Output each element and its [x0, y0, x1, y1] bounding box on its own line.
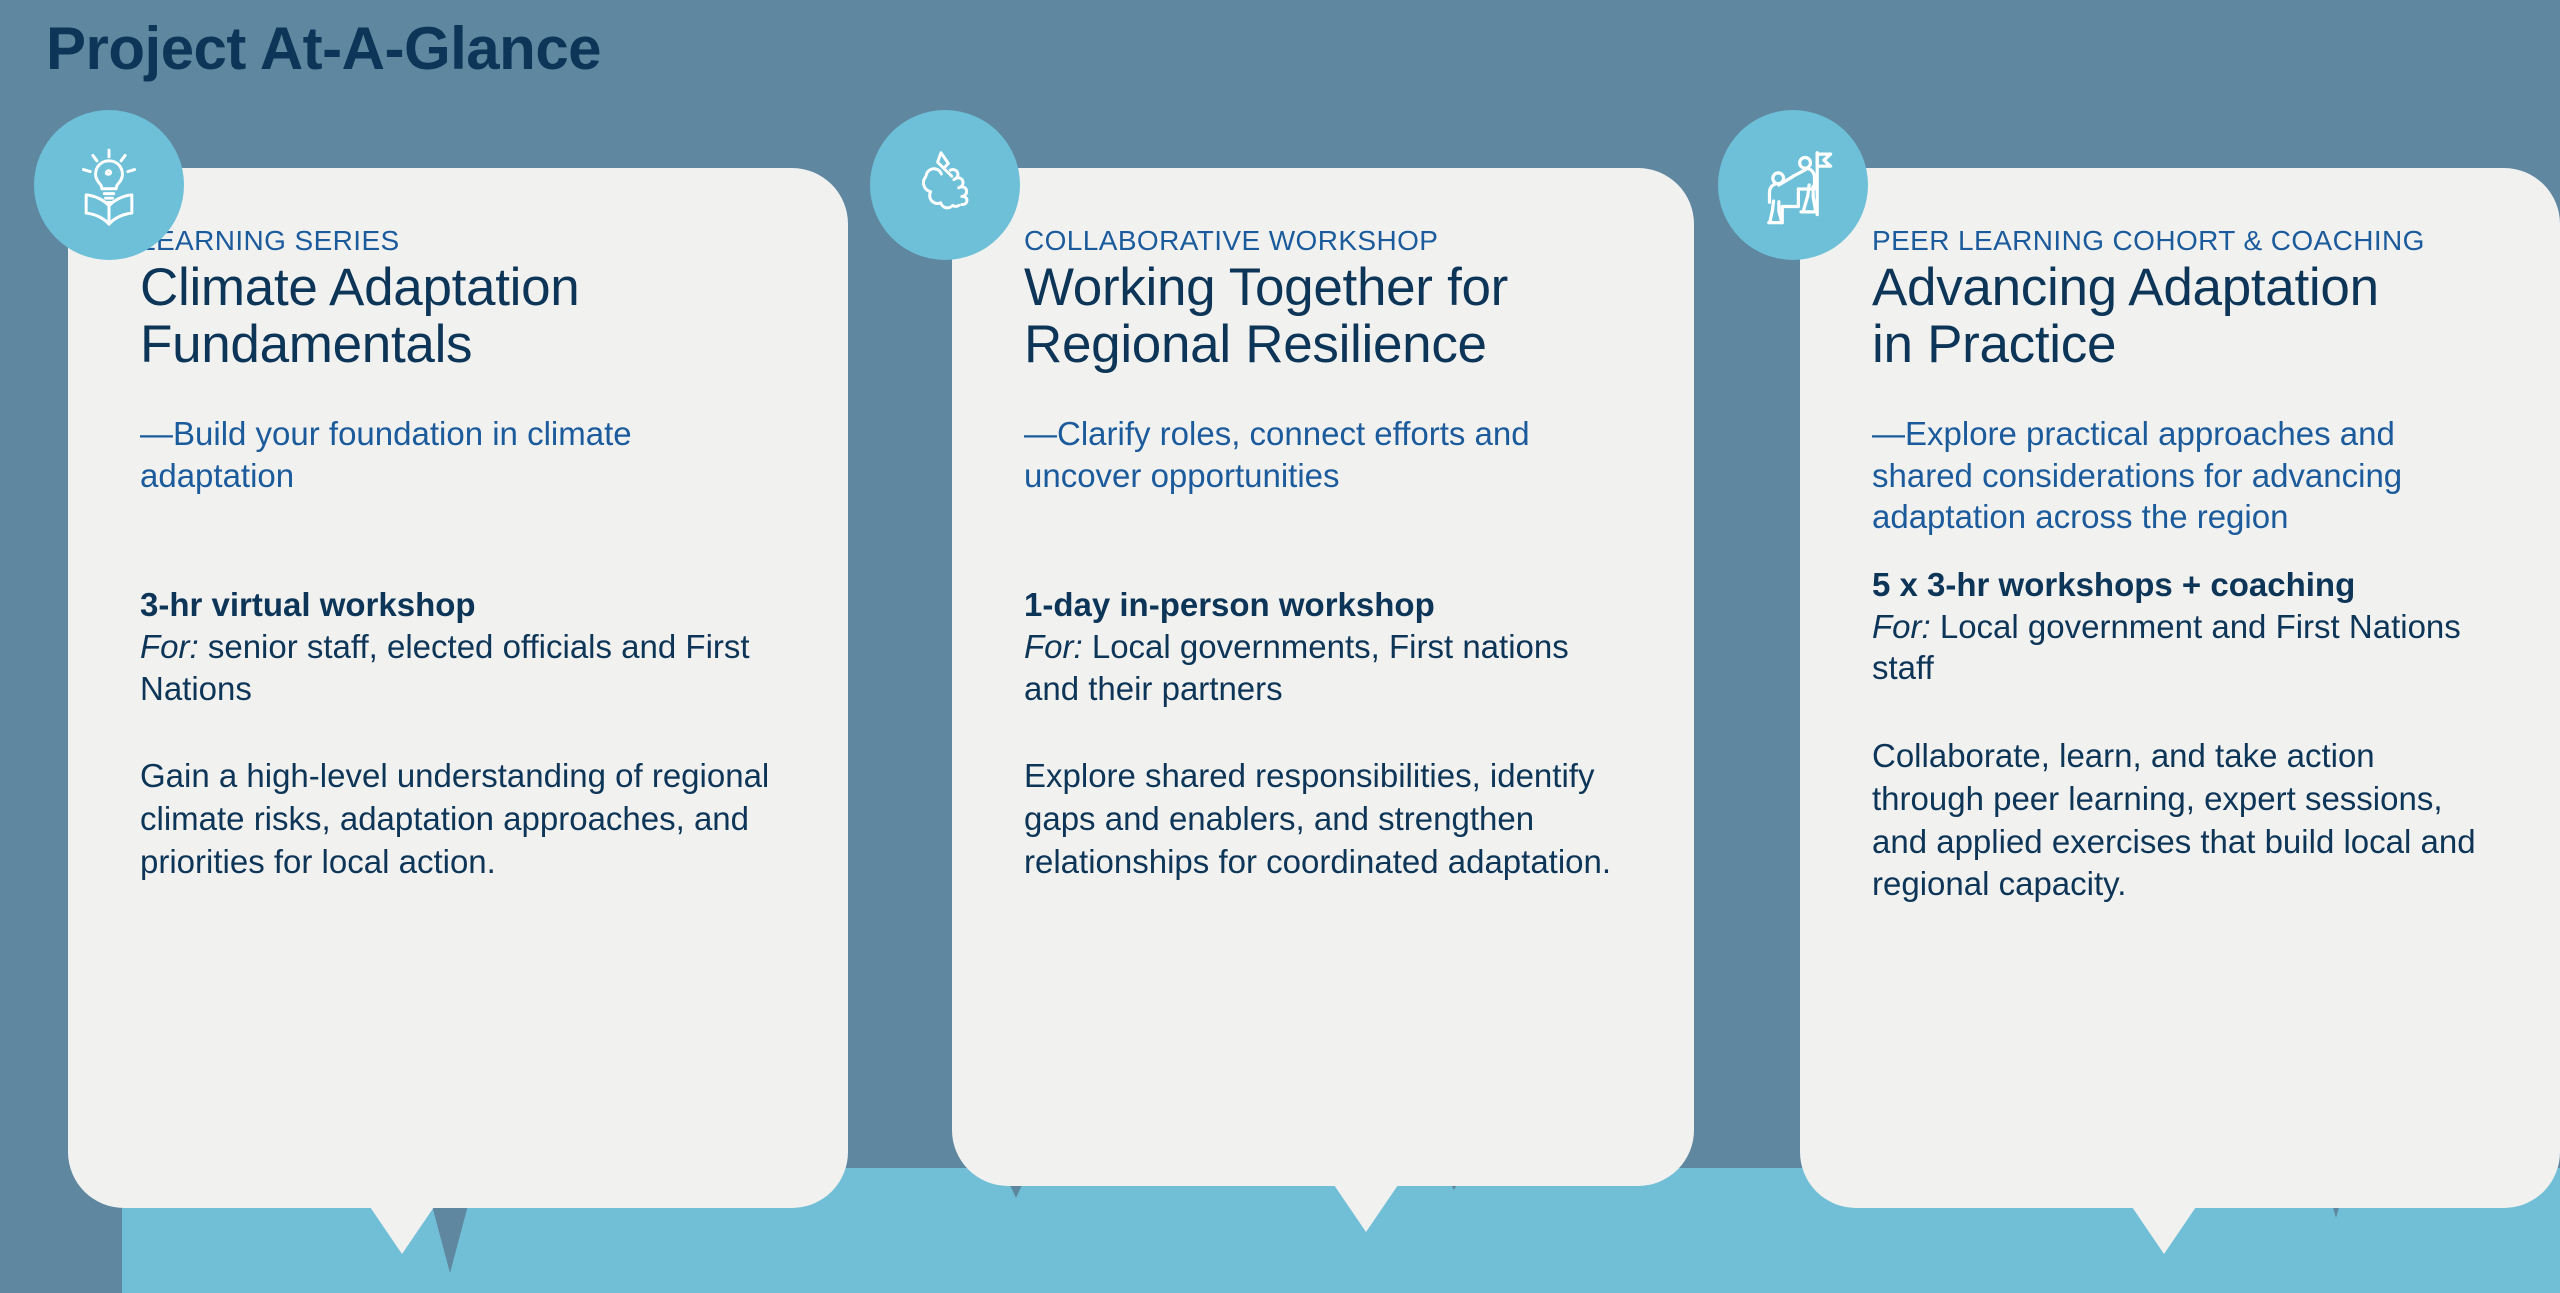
card-detail: 5 x 3-hr workshops + coaching For: Local… [1872, 564, 2488, 689]
card-tagline: —Clarify roles, connect efforts and unco… [1024, 413, 1622, 496]
climbers-flag-icon [1750, 142, 1836, 228]
card-audience: Local governments, First nations and the… [1024, 628, 1569, 707]
card-title-line-1: Advancing Adaptation [1872, 258, 2379, 317]
card-summary: Gain a high-level understanding of regio… [140, 755, 776, 884]
card-title: Working Together for Regional Resilience [1024, 259, 1622, 373]
card-detail: 3-hr virtual workshop For: senior staff,… [140, 584, 776, 709]
card-summary: Collaborate, learn, and take action thro… [1872, 735, 2488, 907]
card-tail [2130, 1204, 2198, 1254]
card-eyebrow: LEARNING SERIES [140, 226, 776, 257]
card-title-line-1: Working Together for [1024, 258, 1508, 317]
card-title: Advancing Adaptation in Practice [1872, 259, 2488, 373]
page-title: Project At-A-Glance [46, 14, 601, 83]
card-title-line-2: in Practice [1872, 315, 2116, 374]
cards-container: LEARNING SERIES Climate Adaptation Funda… [0, 168, 2560, 1228]
card-format: 5 x 3-hr workshops + coaching [1872, 564, 2488, 606]
card-audience: Local government and First Nations staff [1872, 608, 2461, 687]
card-eyebrow: PEER LEARNING COHORT & COACHING [1872, 226, 2488, 257]
card-detail: 1-day in-person workshop For: Local gove… [1024, 584, 1622, 709]
card-tail [368, 1204, 436, 1254]
badge-collaborative-workshop [870, 110, 1020, 260]
card-title: Climate Adaptation Fundamentals [140, 259, 776, 373]
card-audience: senior staff, elected officials and Firs… [140, 628, 750, 707]
lightbulb-book-icon [66, 142, 152, 228]
card-collaborative-workshop[interactable]: COLLABORATIVE WORKSHOP Working Together … [952, 168, 1694, 1186]
card-peer-learning-cohort[interactable]: PEER LEARNING COHORT & COACHING Advancin… [1800, 168, 2560, 1208]
card-summary: Explore shared responsibilities, identif… [1024, 755, 1622, 884]
clasped-hands-icon [902, 142, 988, 228]
card-for-label: For: [140, 628, 199, 665]
badge-peer-learning-cohort [1718, 110, 1868, 260]
card-for-label: For: [1024, 628, 1083, 665]
card-title-line-2: Regional Resilience [1024, 315, 1487, 374]
badge-learning-series [34, 110, 184, 260]
card-tagline: —Explore practical approaches and shared… [1872, 413, 2488, 538]
card-title-line-1: Climate Adaptation [140, 258, 580, 317]
card-learning-series[interactable]: LEARNING SERIES Climate Adaptation Funda… [68, 168, 848, 1208]
card-eyebrow: COLLABORATIVE WORKSHOP [1024, 226, 1622, 257]
card-title-line-2: Fundamentals [140, 315, 472, 374]
card-format: 3-hr virtual workshop [140, 584, 776, 626]
card-tagline: —Build your foundation in climate adapta… [140, 413, 776, 496]
card-format: 1-day in-person workshop [1024, 584, 1622, 626]
card-tail [1332, 1182, 1400, 1232]
card-for-label: For: [1872, 608, 1931, 645]
